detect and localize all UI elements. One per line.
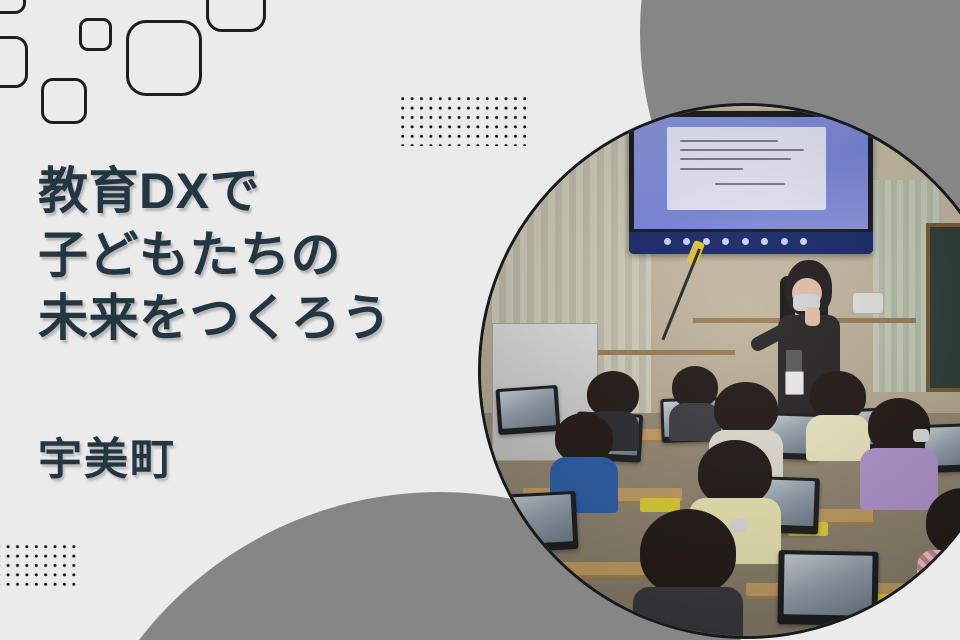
- scene-detail: [680, 149, 804, 151]
- rounded-square-outline-icon: [0, 0, 26, 14]
- scene-detail: [781, 238, 788, 245]
- scene-detail: [640, 509, 736, 595]
- monitor-document: [667, 127, 826, 210]
- page-title: 教育DXで 子どもたちの 未来をつくろう: [38, 160, 478, 351]
- monitor-screen: [634, 117, 868, 229]
- rounded-square-outline-icon: [41, 78, 87, 124]
- scene-detail: [722, 238, 729, 245]
- student-laptop: [495, 491, 578, 553]
- scene-detail: [860, 448, 938, 510]
- chalkboard: [926, 223, 960, 393]
- scene-detail: [715, 183, 785, 185]
- municipality-name: 宇美町: [38, 423, 176, 487]
- scene-detail: [672, 366, 718, 408]
- classroom-speaker: [852, 292, 884, 314]
- rounded-square-outline-icon: [206, 0, 266, 32]
- dot-grid-bottom: [0, 542, 78, 590]
- scene-detail: [683, 238, 690, 245]
- monitor-taskbar: [629, 232, 873, 255]
- scene-detail: [742, 238, 749, 245]
- scene-detail: [714, 382, 778, 436]
- student-face-mask: [913, 429, 929, 442]
- poster-canvas: 教育DXで 子どもたちの 未来をつくろう 宇美町: [0, 0, 960, 640]
- scene-detail: [633, 587, 743, 636]
- student-laptop: [777, 550, 878, 626]
- student-laptop: [495, 385, 560, 435]
- scene-detail: [810, 371, 866, 421]
- scene-detail: [806, 415, 870, 461]
- scene-detail: [680, 158, 791, 160]
- teacher-hand: [805, 307, 820, 326]
- classroom-photo: [478, 103, 960, 639]
- scene-detail: [680, 168, 744, 170]
- classroom-photo-scene: [481, 106, 960, 636]
- teacher-lanyard: [786, 350, 802, 372]
- digital-whiteboard-monitor: [629, 111, 873, 254]
- student-face-mask: [730, 519, 746, 532]
- teacher-id-card: [785, 371, 804, 395]
- scene-detail: [868, 398, 930, 454]
- scene-detail: [555, 413, 613, 463]
- rounded-square-outline-icon: [79, 18, 112, 51]
- scene-detail: [698, 440, 772, 506]
- headline-block: 教育DXで 子どもたちの 未来をつくろう: [38, 160, 478, 351]
- rounded-square-outline-icon: [126, 20, 202, 96]
- scene-detail: [800, 238, 807, 245]
- scene-detail: [664, 238, 671, 245]
- scene-detail: [761, 238, 768, 245]
- wall-shelf-secondary: [598, 350, 736, 355]
- rounded-square-outline-icon: [0, 36, 28, 88]
- scene-detail: [680, 140, 779, 142]
- scene-detail: [917, 550, 960, 626]
